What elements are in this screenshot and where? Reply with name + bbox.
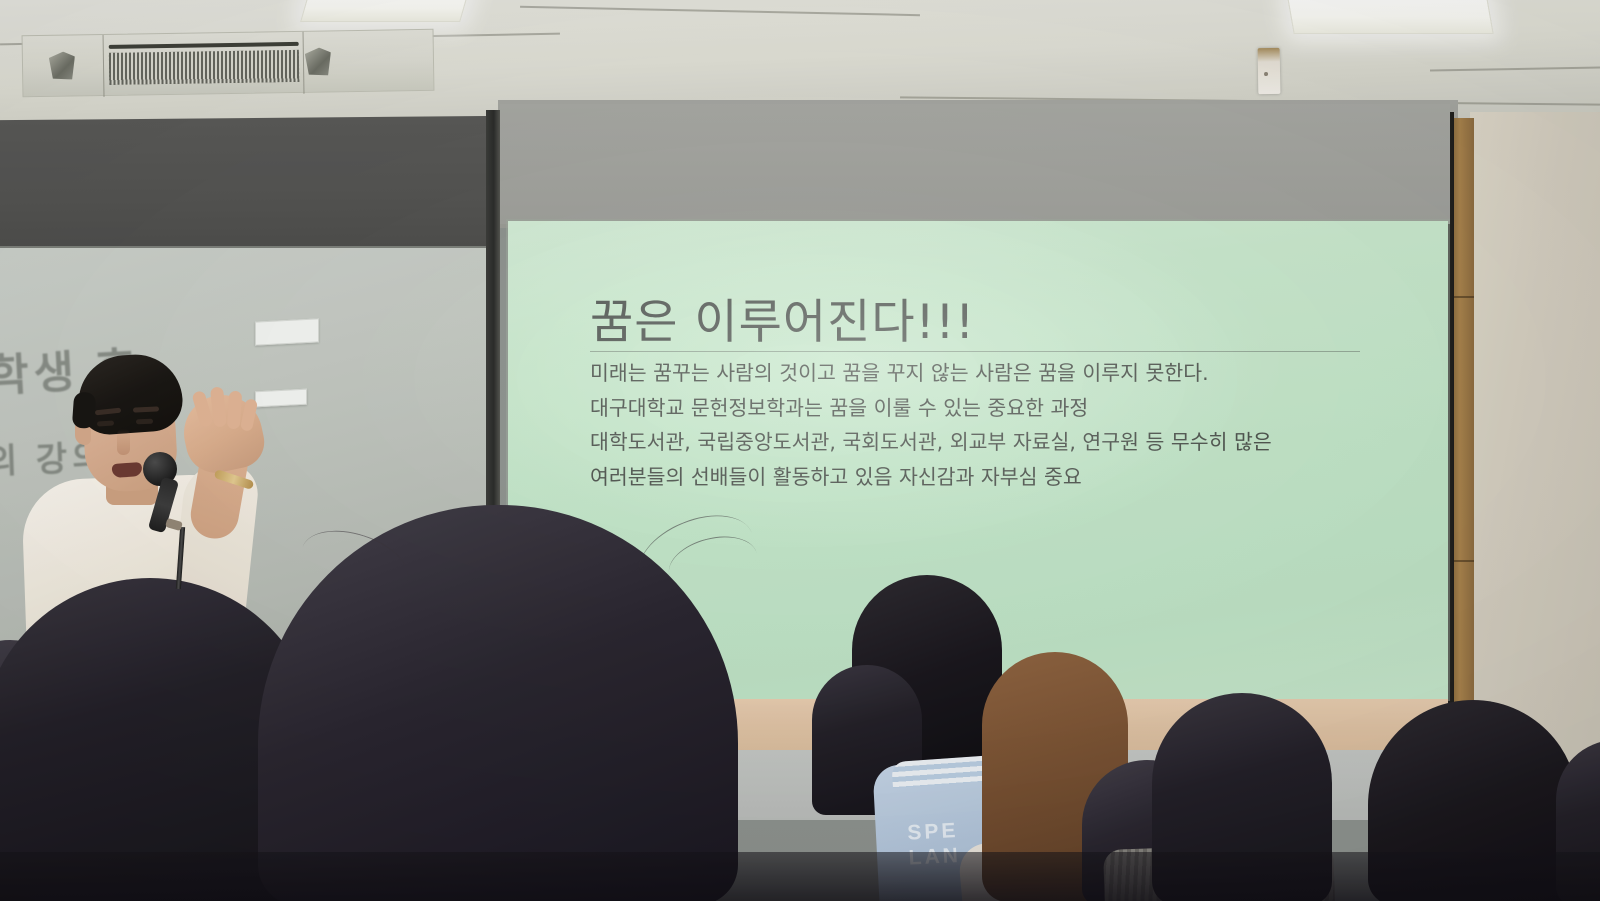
slide-divider-rule [590,351,1360,352]
speaker-eye-right [136,419,153,425]
ceiling-sensor [1258,48,1281,94]
slide-title: 꿈은 이루어진다!!! [590,283,975,352]
diffuser-vent-right [305,47,331,75]
ceiling-light-panel-right [1286,0,1493,34]
diffuser-grille [109,50,299,85]
slide-body: 미래는 꿈꾸는 사람의 것이고 꿈을 꾸지 않는 사람은 꿈을 이루지 못한다.… [590,363,1380,501]
ceiling-seam [520,6,920,16]
audience-row-foreground [0,852,1600,901]
ceiling-seam [1430,67,1600,72]
right-wall [1470,112,1600,792]
diffuser-seam [103,35,105,97]
air-conditioner-diffuser [22,29,435,97]
door-frame [1452,118,1474,790]
diffuser-vent-left [49,51,75,79]
door-frame-seam [1452,560,1474,562]
ceiling-light-panel-left [300,0,470,22]
diffuser-blade [109,42,299,49]
speaker-finger [210,386,227,427]
projector-screen-housing [500,104,1450,224]
door-frame-seam [1452,296,1474,298]
whiteboard-note-upper [255,318,319,345]
slide-body-line-1: 미래는 꿈꾸는 사람의 것이고 꿈을 꾸지 않는 사람은 꿈을 이루지 못한다. [590,363,1380,384]
speaker-hair [75,351,184,436]
diffuser-seam [303,32,305,94]
slide-body-line-2: 대구대학교 문헌정보학과는 꿈을 이룰 수 있는 중요한 과정 [590,398,1380,419]
upper-wall-dark-band [0,116,500,252]
slide-body-line-3: 대학도서관, 국립중앙도서관, 국회도서관, 외교부 자료실, 연구원 등 무수… [590,432,1380,453]
lecture-hall-photo: 학생 후 의 강의 꿈은 이루어진다!!! 미래는 꿈꾸는 사람의 것이고 꿈을… [0,0,1600,901]
slide-body-line-4: 여러분들의 선배들이 활동하고 있음 자신감과 자부심 중요 [590,467,1380,488]
speaker-nose [117,429,130,455]
